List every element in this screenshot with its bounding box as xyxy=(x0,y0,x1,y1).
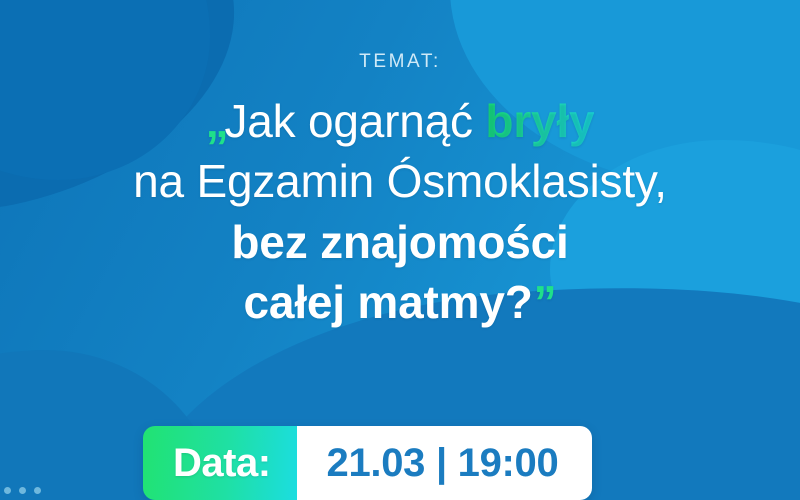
topic-eyebrow-label: TEMAT: xyxy=(359,52,441,71)
poster-content: TEMAT: „Jak ogarnąć bryły na Egzamin Ósm… xyxy=(0,0,800,500)
headline-line-4-text: całej matmy? xyxy=(244,276,533,328)
poster-headline: „Jak ogarnąć bryły na Egzamin Ósmoklasis… xyxy=(30,91,770,332)
headline-line-1: „Jak ogarnąć bryły xyxy=(30,91,770,151)
headline-line-3: bez znajomości xyxy=(30,212,770,272)
headline-line-2: na Egzamin Ósmoklasisty, xyxy=(30,151,770,211)
webinar-poster: TEMAT: „Jak ogarnąć bryły na Egzamin Ósm… xyxy=(0,0,800,500)
headline-accent-word: bryły xyxy=(485,95,594,147)
headline-line-1-plain: Jak ogarnąć xyxy=(224,95,485,147)
quote-close-mark: ” xyxy=(534,276,557,328)
headline-line-4: całej matmy?” xyxy=(30,272,770,332)
